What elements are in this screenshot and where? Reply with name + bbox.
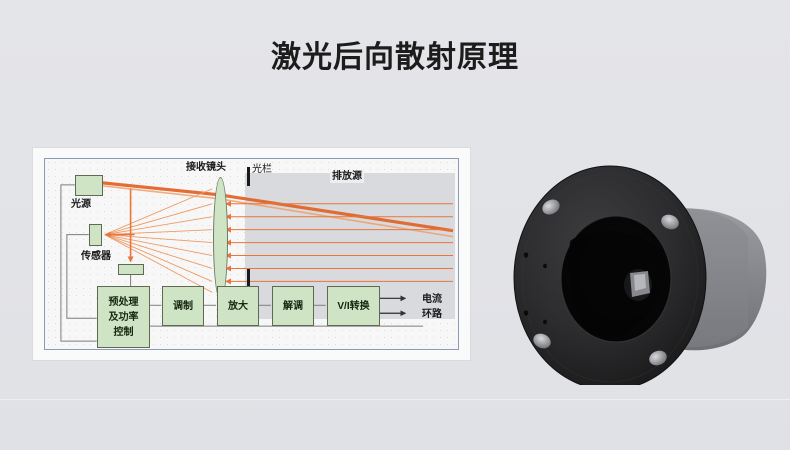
block-amplify: 放大 <box>217 286 259 326</box>
label-aperture: 光栏 <box>252 164 272 176</box>
sensor-block <box>89 224 102 246</box>
label-current-line1: 电流 <box>422 294 442 306</box>
label-current-line2: 环路 <box>422 309 442 321</box>
block-demodulate: 解调 <box>272 286 314 326</box>
block-modulate: 调制 <box>162 286 204 326</box>
aperture-bar-top <box>247 167 250 186</box>
block-preprocess-line3: 控制 <box>114 325 134 340</box>
page-root: 激光后向散射原理 <box>0 0 790 450</box>
block-preprocess-line2: 及功率 <box>109 310 139 325</box>
label-light-source: 光源 <box>71 199 91 211</box>
label-receiving-lens: 接收镜头 <box>186 162 226 174</box>
receiving-lens-shape <box>213 177 228 301</box>
label-emission-source: 排放源 <box>330 171 364 183</box>
horizontal-divider <box>0 399 790 400</box>
light-source-block <box>75 175 103 196</box>
lens-bore <box>561 216 671 342</box>
block-vi-convert: V/I转换 <box>327 286 380 326</box>
label-sensor: 传感器 <box>81 251 111 263</box>
page-title: 激光后向散射原理 <box>0 38 790 78</box>
block-preprocess-line1: 预处理 <box>109 295 139 310</box>
diagram-frame: 预处理 及功率 控制 调制 放大 解调 V/I转换 光源 传感器 接收镜头 光栏… <box>44 158 459 350</box>
block-preprocess: 预处理 及功率 控制 <box>97 286 150 348</box>
diagram-panel: 预处理 及功率 控制 调制 放大 解调 V/I转换 光源 传感器 接收镜头 光栏… <box>33 148 470 360</box>
detector-block <box>118 264 144 275</box>
product-photo <box>498 145 790 385</box>
